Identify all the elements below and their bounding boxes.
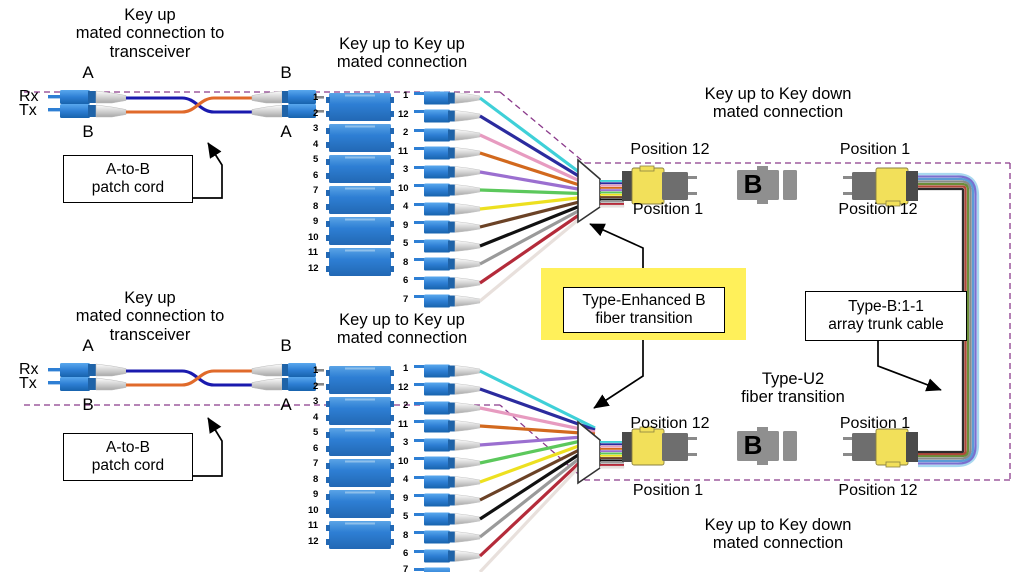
position-label-top-left-upper: Position 12 xyxy=(630,141,709,159)
cassette-num-bottom-5: 5 xyxy=(313,428,318,439)
cassette-num-top-12: 12 xyxy=(308,264,319,275)
fanout-num-bottom-5: 10 xyxy=(398,457,409,468)
position-label-top-left-lower: Position 1 xyxy=(633,201,703,219)
callout-enhanced-b-text: Type-Enhanced B fiber transition xyxy=(582,292,705,328)
cassette-num-top-5: 5 xyxy=(313,155,318,166)
fanout-num-bottom-7: 9 xyxy=(403,494,408,505)
patch-label-b-top-upper: B xyxy=(280,63,291,82)
patch-label-a-bottom-upper: A xyxy=(82,336,93,355)
cassette-num-top-11: 11 xyxy=(308,248,318,259)
patch-cord-bottom xyxy=(48,363,324,391)
adapter-letter-b-top: B xyxy=(744,170,763,199)
position-label-top-right-upper: Position 1 xyxy=(840,141,910,159)
fanout-num-bottom-4: 3 xyxy=(403,438,408,449)
cassette-num-bottom-9: 9 xyxy=(313,490,318,501)
patch-cord-top xyxy=(48,90,324,118)
heading-keydown-bottom: Key up to Key down mated connection xyxy=(705,516,852,553)
patch-label-a-bottom-lower: A xyxy=(280,395,291,414)
fanout-num-top-11: 7 xyxy=(403,295,408,306)
cassette-num-bottom-2: 2 xyxy=(313,382,318,393)
callout-arrow-enhanced-b-top xyxy=(590,224,643,268)
cassette-num-top-10: 10 xyxy=(308,233,319,244)
cassette-adapters-top xyxy=(326,93,394,276)
furcation-body-bottom xyxy=(578,422,624,483)
position-label-top-right-lower: Position 12 xyxy=(838,201,917,219)
patch-label-b-bottom-upper: B xyxy=(280,336,291,355)
fanout-connectors-bottom xyxy=(414,365,595,573)
position-label-bottom-right-upper: Position 1 xyxy=(840,415,910,433)
fanout-num-top-5: 10 xyxy=(398,184,409,195)
patch-label-b-top-lower: B xyxy=(82,122,93,141)
position-label-bottom-left-lower: Position 1 xyxy=(633,482,703,500)
callout-patch-cord-bottom-text: A-to-B patch cord xyxy=(92,439,164,475)
cassette-num-top-1: 1 xyxy=(313,93,318,104)
cassette-num-bottom-1: 1 xyxy=(313,366,318,377)
fanout-num-top-8: 5 xyxy=(403,239,408,250)
callout-trunk-cable: Type-B:1-1 array trunk cable xyxy=(805,291,967,341)
cassette-num-top-7: 7 xyxy=(313,186,318,197)
patch-label-a-top-lower: A xyxy=(280,122,291,141)
cassette-num-bottom-6: 6 xyxy=(313,444,318,455)
callout-trunk-cable-text: Type-B:1-1 array trunk cable xyxy=(828,298,943,334)
label-tx-top: Tx xyxy=(19,102,37,120)
callout-arrow-patch-bottom xyxy=(190,418,222,476)
fanout-num-bottom-6: 4 xyxy=(403,475,408,486)
furcation-body-top xyxy=(578,160,624,222)
callout-arrow-trunk xyxy=(878,340,941,390)
fanout-num-top-3: 11 xyxy=(398,147,408,158)
fanout-num-bottom-1: 12 xyxy=(398,383,409,394)
heading-keyup-bottom: Key up to Key up mated connection xyxy=(337,311,467,348)
fanout-num-top-4: 3 xyxy=(403,165,408,176)
cassette-num-top-6: 6 xyxy=(313,171,318,182)
cassette-num-bottom-4: 4 xyxy=(313,413,318,424)
cassette-num-top-2: 2 xyxy=(313,109,318,120)
cassette-num-top-3: 3 xyxy=(313,124,318,135)
mpo-plug-right-bottom xyxy=(843,429,918,467)
label-tx-bottom: Tx xyxy=(19,375,37,393)
fanout-num-bottom-2: 2 xyxy=(403,401,408,412)
fanout-num-top-6: 4 xyxy=(403,202,408,213)
callout-enhanced-b: Type-Enhanced B fiber transition xyxy=(563,287,725,333)
fanout-num-top-7: 9 xyxy=(403,221,408,232)
position-label-bottom-left-upper: Position 12 xyxy=(630,415,709,433)
cassette-num-top-4: 4 xyxy=(313,140,318,151)
cassette-num-bottom-10: 10 xyxy=(308,506,319,517)
callout-arrow-enhanced-b-bottom xyxy=(594,340,643,408)
heading-transceiver-top: Key up mated connection to transceiver xyxy=(76,6,225,61)
callout-patch-cord-top: A-to-B patch cord xyxy=(63,155,193,203)
cassette-num-bottom-12: 12 xyxy=(308,537,319,548)
fanout-num-top-2: 2 xyxy=(403,128,408,139)
fanout-num-bottom-0: 1 xyxy=(403,364,408,375)
fanout-num-top-9: 8 xyxy=(403,258,408,269)
cassette-num-bottom-8: 8 xyxy=(313,475,318,486)
heading-keyup-top: Key up to Key up mated connection xyxy=(337,35,467,72)
adapter-letter-b-bottom: B xyxy=(744,431,763,460)
fanout-num-top-10: 6 xyxy=(403,276,408,287)
diagram-canvas: Key up mated connection to transceiver K… xyxy=(0,0,1024,572)
cassette-num-bottom-7: 7 xyxy=(313,459,318,470)
callout-arrow-patch-top xyxy=(190,143,222,198)
callout-patch-cord-top-text: A-to-B patch cord xyxy=(92,161,164,197)
fanout-num-top-1: 12 xyxy=(398,110,409,121)
callout-type-u2: Type-U2 fiber transition xyxy=(741,370,845,407)
position-label-bottom-right-lower: Position 12 xyxy=(838,482,917,500)
cassette-num-bottom-11: 11 xyxy=(308,521,318,532)
cassette-adapters-bottom xyxy=(326,366,394,549)
fanout-num-bottom-8: 5 xyxy=(403,512,408,523)
fanout-num-bottom-11: 7 xyxy=(403,565,408,576)
fanout-num-bottom-9: 8 xyxy=(403,531,408,542)
cassette-num-top-8: 8 xyxy=(313,202,318,213)
cassette-num-bottom-3: 3 xyxy=(313,397,318,408)
cassette-num-top-9: 9 xyxy=(313,217,318,228)
heading-transceiver-bottom: Key up mated connection to transceiver xyxy=(76,289,225,344)
heading-keydown-top: Key up to Key down mated connection xyxy=(705,85,852,122)
fanout-num-bottom-3: 11 xyxy=(398,420,408,431)
fanout-num-top-0: 1 xyxy=(403,91,408,102)
mpo-plug-left-top xyxy=(622,166,697,204)
patch-label-b-bottom-lower: B xyxy=(82,395,93,414)
callout-patch-cord-bottom: A-to-B patch cord xyxy=(63,433,193,481)
patch-label-a-top-upper: A xyxy=(82,63,93,82)
fanout-num-bottom-10: 6 xyxy=(403,549,408,560)
